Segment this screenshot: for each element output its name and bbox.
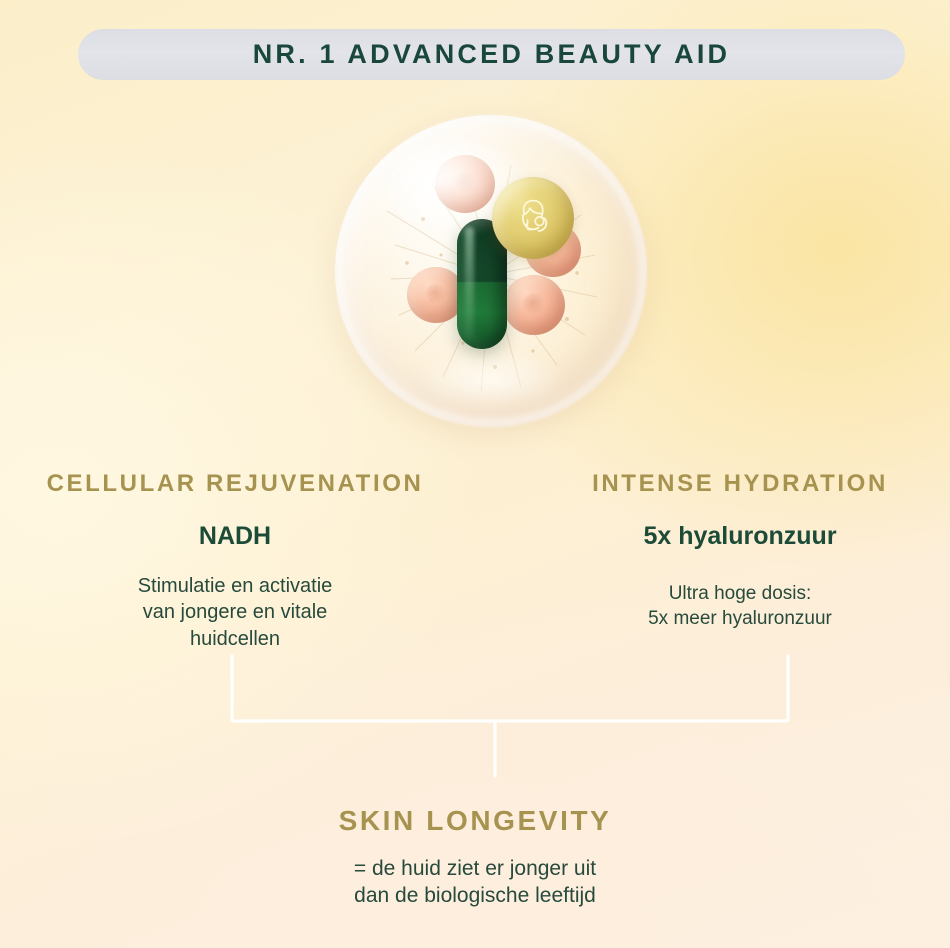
benefit-kicker: CELLULAR REJUVENATION	[10, 470, 460, 498]
badge-label: NR. 1 ADVANCED BEAUTY AID	[253, 39, 731, 70]
benefit-description: Stimulatie en activatie van jongere en v…	[10, 573, 460, 652]
cell-nucleus	[426, 284, 447, 304]
hero-illustration	[335, 115, 647, 427]
benefit-ingredient: NADH	[10, 522, 460, 551]
skin-cell	[503, 275, 565, 335]
promo-graphic: NR. 1 ADVANCED BEAUTY AID	[0, 0, 950, 948]
benefit-ingredient: 5x hyaluronzuur	[540, 522, 940, 551]
skin-longevity-title: SKIN LONGEVITY	[0, 805, 950, 837]
benefit-column-cellular-rejuvenation: CELLULAR REJUVENATION NADH Stimulatie en…	[10, 470, 460, 652]
skin-longevity-description: = de huid ziet er jonger uit dan de biol…	[0, 855, 950, 910]
bubble-lower-highlight	[416, 352, 566, 408]
bracket-connector	[0, 650, 950, 790]
advanced-beauty-aid-badge: NR. 1 ADVANCED BEAUTY AID	[78, 29, 905, 80]
benefit-description: Ultra hoge dosis: 5x meer hyaluronzuur	[540, 581, 940, 631]
skin-longevity-section: SKIN LONGEVITY = de huid ziet er jonger …	[0, 805, 950, 910]
bubble-highlight	[385, 140, 529, 234]
benefit-column-intense-hydration: INTENSE HYDRATION 5x hyaluronzuur Ultra …	[540, 470, 940, 631]
cell-nucleus	[523, 293, 545, 315]
benefit-kicker: INTENSE HYDRATION	[540, 470, 940, 498]
